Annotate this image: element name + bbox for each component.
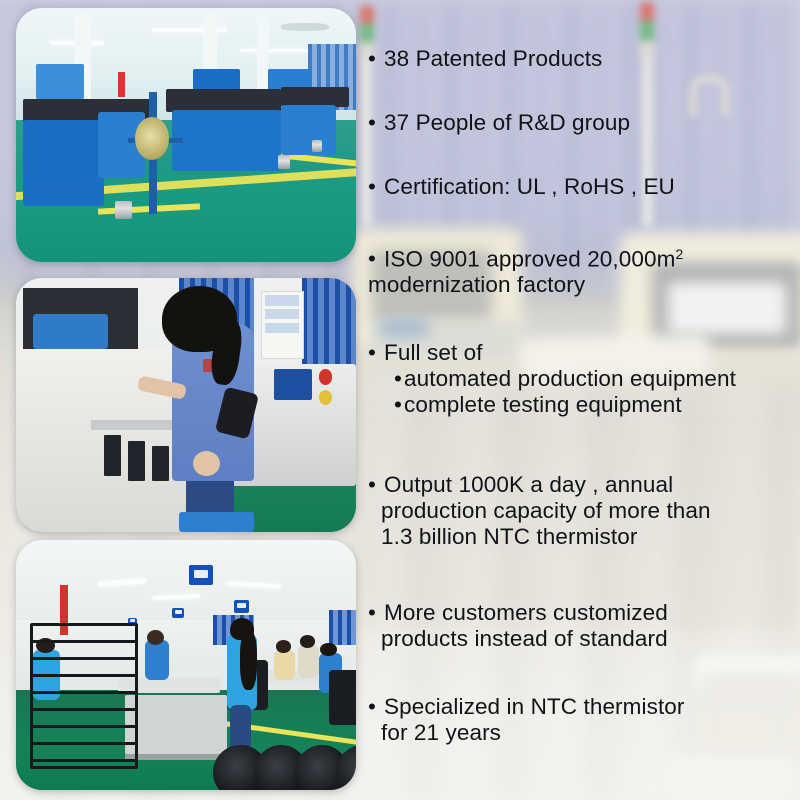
- sub-bullet-text: automated production equipment: [404, 366, 736, 391]
- indicator-button: [319, 390, 333, 405]
- blue-machine: [172, 110, 281, 171]
- machine-head: [166, 89, 282, 112]
- sub-bullet-line: •complete testing equipment: [368, 392, 800, 418]
- area-unit-exponent: 2: [675, 246, 683, 262]
- sub-bullet-marker: •: [394, 366, 404, 392]
- wire-spool: [115, 201, 132, 219]
- worker: [145, 640, 169, 680]
- bullet-marker: •: [368, 246, 384, 272]
- hanging-sign: [172, 608, 184, 618]
- bullet-text: 38 Patented Products: [384, 46, 602, 71]
- bullet-marker: •: [368, 694, 384, 720]
- bullet-text: More customers customized: [384, 600, 668, 625]
- wire-spool: [312, 140, 322, 151]
- sub-bullet-text: complete testing equipment: [404, 392, 682, 417]
- worker: [274, 650, 294, 680]
- photo-factory-production-line: [16, 8, 356, 262]
- dark-material-stack: [329, 670, 356, 725]
- control-panel: [274, 369, 311, 399]
- blue-cabinet: [36, 64, 84, 100]
- bullet-continuation: modernization factory: [368, 272, 800, 298]
- machine-module: [128, 441, 145, 482]
- sub-bullet-line: •automated production equipment: [368, 366, 800, 392]
- photo-assembly-workshop: [16, 540, 356, 790]
- bullet-marker: •: [368, 340, 384, 366]
- fire-extinguisher: [118, 72, 125, 97]
- bullet-marker: •: [368, 472, 384, 498]
- photo-3-content: [16, 540, 356, 790]
- blue-window-blind: [329, 610, 356, 645]
- emergency-stop-button: [319, 369, 333, 384]
- bullet-line: •38 Patented Products: [368, 46, 800, 72]
- bullet-item-iso-factory: •ISO 9001 approved 20,000m2 modernizatio…: [368, 246, 800, 298]
- bullet-item-output: •Output 1000K a day , annual production …: [368, 472, 800, 550]
- bullet-marker: •: [368, 174, 384, 200]
- white-machine-left: [16, 349, 186, 532]
- area-unit: m: [657, 246, 676, 271]
- machine-module: [152, 446, 169, 482]
- bullet-text: Certification: UL , RoHS , EU: [384, 174, 675, 199]
- slide-canvas: •38 Patented Products •37 People of R&D …: [0, 0, 800, 800]
- hanging-sign: [189, 565, 213, 585]
- bullet-line: •ISO 9001 approved 20,000m2: [368, 246, 800, 272]
- bullet-continuation: production capacity of more than: [368, 498, 800, 524]
- trolley-rack: [30, 623, 138, 769]
- ceiling-fan: [281, 23, 329, 31]
- worker-head: [276, 640, 291, 653]
- hanging-sign: [234, 600, 249, 613]
- blue-parts-bin: [33, 314, 108, 350]
- bullet-line: •More customers customized: [368, 600, 800, 626]
- bullet-marker: •: [368, 600, 384, 626]
- bullet-item-customized: •More customers customized products inst…: [368, 600, 800, 652]
- ceiling-light: [240, 49, 308, 52]
- worker-head: [230, 618, 254, 641]
- bullet-text: 37 People of R&D group: [384, 110, 630, 135]
- worker-hand: [193, 451, 220, 476]
- bullet-text: ISO 9001 approved 20,000: [384, 246, 657, 271]
- photo-1-content: [16, 8, 356, 262]
- bullet-line: •Full set of: [368, 340, 800, 366]
- bullet-line: •Specialized in NTC thermistor: [368, 694, 800, 720]
- sub-bullet-marker: •: [394, 392, 404, 418]
- worker-head: [300, 635, 315, 648]
- worker-head: [147, 630, 164, 645]
- capability-bullet-list: •38 Patented Products •37 People of R&D …: [368, 0, 800, 800]
- bullet-continuation: products instead of standard: [368, 626, 800, 652]
- bullet-line: •Certification: UL , RoHS , EU: [368, 174, 800, 200]
- notice-board: [261, 291, 304, 359]
- bullet-item-full-set: •Full set of •automated production equip…: [368, 340, 800, 418]
- bullet-continuation: for 21 years: [368, 720, 800, 746]
- bullet-item-certification: •Certification: UL , RoHS , EU: [368, 174, 800, 200]
- bullet-text: Full set of: [384, 340, 483, 365]
- bullet-line: •Output 1000K a day , annual: [368, 472, 800, 498]
- blue-parts-bin: [179, 512, 254, 532]
- bullet-continuation: 1.3 billion NTC thermistor: [368, 524, 800, 550]
- photo-2-content: [16, 278, 356, 532]
- bullet-item-patents: •38 Patented Products: [368, 46, 800, 72]
- bullet-item-specialized: •Specialized in NTC thermistor for 21 ye…: [368, 694, 800, 746]
- machine-module: [104, 435, 121, 476]
- photo-worker-operating-machine: [16, 278, 356, 532]
- blue-machine: [23, 120, 105, 206]
- wire-spool: [278, 155, 290, 169]
- bullet-marker: •: [368, 46, 384, 72]
- bullet-line: •37 People of R&D group: [368, 110, 800, 136]
- bullet-marker: •: [368, 110, 384, 136]
- bullet-text: Specialized in NTC thermistor: [384, 694, 685, 719]
- worker: [298, 645, 318, 678]
- assembly-table: [125, 695, 227, 760]
- blue-machine: [281, 105, 335, 156]
- bullet-item-rnd-people: •37 People of R&D group: [368, 110, 800, 136]
- bullet-text: Output 1000K a day , annual: [384, 472, 673, 497]
